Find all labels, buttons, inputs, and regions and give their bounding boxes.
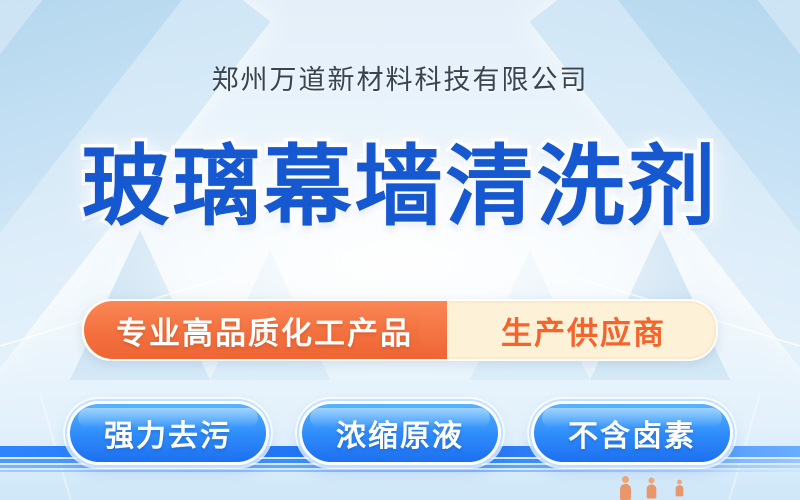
subtitle-secondary: 生产供应商 <box>447 308 716 353</box>
company-name: 郑州万道新材料科技有限公司 <box>0 58 800 97</box>
banner-content: 郑州万道新材料科技有限公司 玻璃幕墙清洗剂 专业高品质化工产品 生产供应商 强力… <box>0 0 800 500</box>
subtitle-bar: 专业高品质化工产品 生产供应商 <box>82 299 718 361</box>
feature-pill-label: 不含卤素 <box>568 411 696 455</box>
feature-pill-label: 强力去污 <box>104 411 232 455</box>
feature-pill-label: 浓缩原液 <box>336 411 464 455</box>
feature-pill-group: 强力去污 浓缩原液 不含卤素 <box>0 404 800 462</box>
feature-pill-halogen-free[interactable]: 不含卤素 <box>534 404 730 462</box>
page-title: 玻璃幕墙清洗剂 <box>0 143 800 231</box>
promo-banner: 郑州万道新材料科技有限公司 玻璃幕墙清洗剂 专业高品质化工产品 生产供应商 强力… <box>0 0 800 500</box>
feature-pill-strong-cleaning[interactable]: 强力去污 <box>70 404 266 462</box>
feature-pill-concentrated[interactable]: 浓缩原液 <box>302 404 498 462</box>
subtitle-primary: 专业高品质化工产品 <box>84 301 447 359</box>
